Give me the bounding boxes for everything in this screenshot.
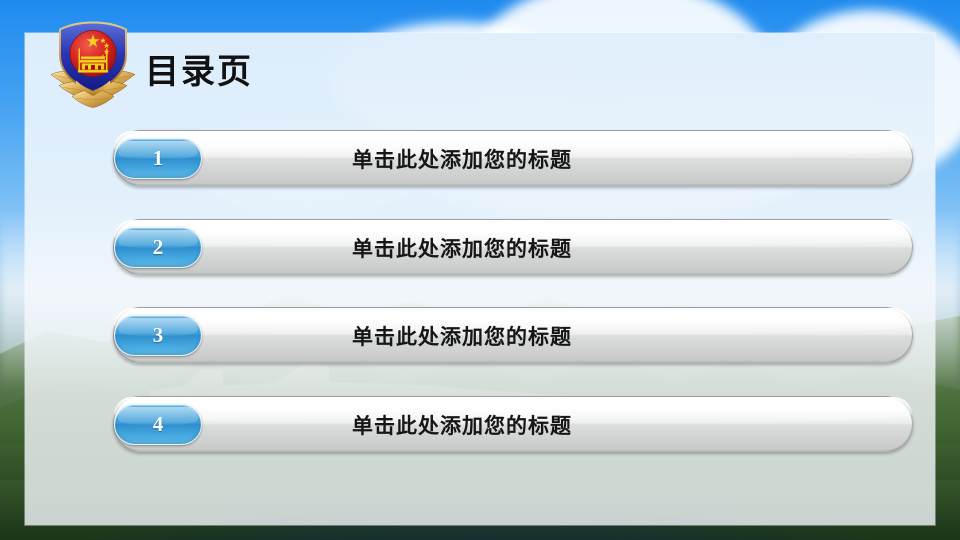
toc-number-label: 4 <box>153 414 164 435</box>
toc-item-title[interactable]: 单击此处添加您的标题 <box>352 397 572 453</box>
toc-number-badge[interactable]: 3 <box>114 315 202 356</box>
toc-number-badge[interactable]: 2 <box>114 227 202 268</box>
toc-row[interactable]: 4 单击此处添加您的标题 <box>113 396 913 452</box>
toc-number-badge[interactable]: 1 <box>114 138 202 179</box>
toc-number-label: 3 <box>153 325 164 346</box>
toc-number-badge[interactable]: 4 <box>114 404 202 445</box>
toc-number-label: 2 <box>153 237 164 258</box>
slide-canvas: 目录页 1 单击此处添加您的标题 2 单击此处添加您的标题 3 单击此处添加您的… <box>0 0 960 540</box>
toc-item-title[interactable]: 单击此处添加您的标题 <box>352 308 572 364</box>
toc-item-title[interactable]: 单击此处添加您的标题 <box>352 220 572 276</box>
toc-row[interactable]: 1 单击此处添加您的标题 <box>113 130 913 186</box>
toc-item-title[interactable]: 单击此处添加您的标题 <box>352 131 572 187</box>
toc-row[interactable]: 3 单击此处添加您的标题 <box>113 307 913 363</box>
toc-number-label: 1 <box>153 148 164 169</box>
toc-list: 1 单击此处添加您的标题 2 单击此处添加您的标题 3 单击此处添加您的标题 4… <box>0 0 960 540</box>
toc-row[interactable]: 2 单击此处添加您的标题 <box>113 219 913 275</box>
